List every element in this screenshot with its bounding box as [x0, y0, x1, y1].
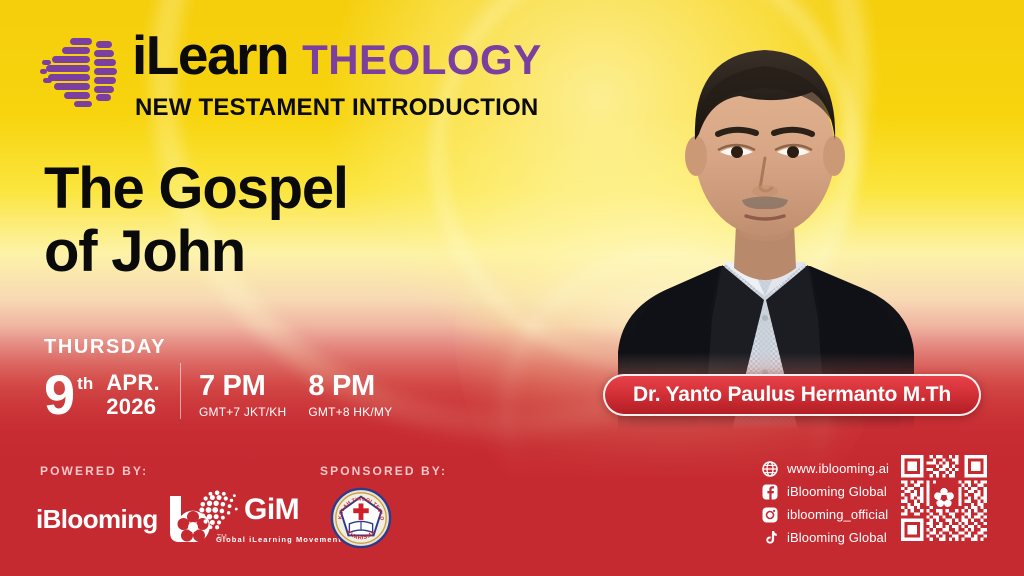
contact-text: www.iblooming.ai [787, 461, 889, 476]
gim-wordmark: GiM [244, 495, 299, 525]
gim-logo: GiM Global iLearning Movement [198, 488, 342, 544]
time-zone: GMT+8 HK/MY [308, 405, 392, 419]
year: 2026 [106, 395, 160, 420]
pentagon-seal-cross-book-icon: SEKOLAH TINGGI TEOLOGI KHARISMA [330, 487, 392, 549]
day-number: 9 [44, 369, 74, 421]
sponsored-by-label: SPONSORED BY: [320, 464, 447, 478]
tiktok-icon [762, 530, 778, 546]
globe-dots-icon [198, 488, 242, 532]
title-line-2: of John [44, 221, 348, 284]
contact-row-tiktok[interactable]: iBlooming Global [762, 526, 889, 549]
month: APR. [106, 371, 160, 396]
gim-tagline: Global iLearning Movement [216, 535, 342, 544]
page-title: The Gospel of John [44, 158, 348, 283]
contact-text: iBlooming Global [787, 530, 887, 545]
course-subtitle: NEW TESTAMENT INTRODUCTION [135, 94, 542, 122]
facebook-icon [762, 484, 778, 500]
promo-banner: iLearn THEOLOGY NEW TESTAMENT INTRODUCTI… [0, 0, 1024, 576]
speaker-name: Dr. Yanto Paulus Hermanto M.Th [633, 383, 951, 407]
day-ordinal: th [77, 374, 93, 394]
speaker-portrait [600, 0, 930, 430]
event-datetime: THURSDAY 9 th APR. 2026 7 PM GMT+7 JKT/K… [44, 336, 414, 421]
title-line-1: The Gospel [44, 156, 348, 221]
time-slot-2: 8 PM GMT+8 HK/MY [308, 372, 392, 419]
sponsored-by-label-wrap: SPONSORED BY: [320, 462, 447, 480]
time-hour: 8 PM [308, 372, 392, 401]
contact-row-facebook[interactable]: iBlooming Global [762, 480, 889, 503]
ilearn-dots-circle-logo-icon [40, 32, 118, 110]
iblooming-wordmark: iBlooming [36, 504, 158, 535]
time-zone: GMT+7 JKT/KH [199, 405, 286, 419]
divider [180, 363, 181, 419]
time-hour: 7 PM [199, 372, 286, 401]
brand-header: iLearn THEOLOGY NEW TESTAMENT INTRODUCTI… [40, 28, 542, 122]
brand-primary: iLearn [132, 28, 288, 83]
qr-code[interactable] [898, 452, 990, 544]
speaker-name-badge: Dr. Yanto Paulus Hermanto M.Th [603, 374, 981, 416]
powered-by-label: POWERED BY: [40, 464, 148, 478]
contact-row-website[interactable]: www.iblooming.ai [762, 457, 889, 480]
brand-secondary: THEOLOGY [302, 39, 542, 81]
instagram-icon [762, 507, 778, 523]
contact-list: www.iblooming.ai iBlooming Global ibloom… [762, 457, 889, 549]
month-year: APR. 2026 [106, 371, 160, 420]
time-slot-1: 7 PM GMT+7 JKT/KH [199, 372, 286, 419]
powered-by-label-wrap: POWERED BY: [40, 462, 148, 480]
globe-icon [762, 461, 778, 477]
contact-text: iblooming_official [787, 507, 888, 522]
day-name: THURSDAY [44, 336, 414, 359]
contact-row-instagram[interactable]: iblooming_official [762, 503, 889, 526]
contact-text: iBlooming Global [787, 484, 887, 499]
